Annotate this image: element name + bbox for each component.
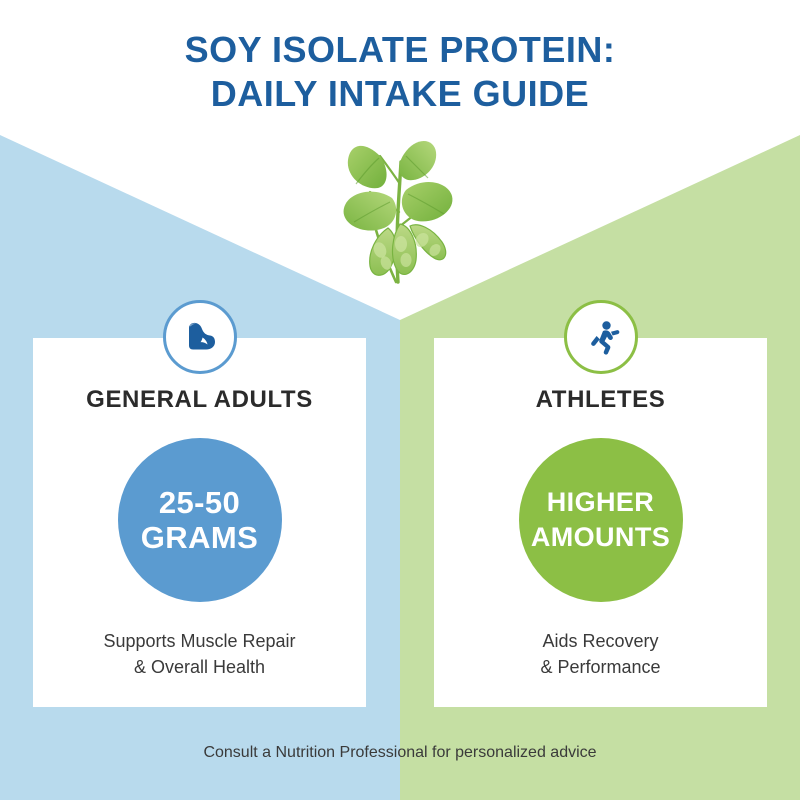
card-description-athletes: Aids Recovery & Performance [540,628,660,680]
desc-line-1: Supports Muscle Repair [103,628,295,654]
value-circle-general-adults: 25-50 GRAMS [118,438,282,602]
value-line-1: HIGHER [547,485,654,520]
footer-disclaimer: Consult a Nutrition Professional for per… [0,744,800,762]
soybean-pod-left [370,228,396,275]
card-heading-athletes: ATHLETES [536,386,666,414]
leaf-mid-left [344,192,397,231]
value-circle-athletes: HIGHER AMOUNTS [519,438,683,602]
infographic-canvas: SOY ISOLATE PROTEIN: DAILY INTAKE GUIDE [0,0,800,800]
card-description-general-adults: Supports Muscle Repair & Overall Health [103,628,295,680]
desc-line-2: & Overall Health [103,654,295,680]
page-title: SOY ISOLATE PROTEIN: DAILY INTAKE GUIDE [0,28,800,116]
leaf-mid-right [402,182,453,221]
value-line-1: 25-50 [159,485,240,520]
desc-line-2: & Performance [540,654,660,680]
flexed-bicep-icon-badge [163,300,237,374]
soybean-plant-illustration [330,132,470,292]
card-athletes: ATHLETES HIGHER AMOUNTS Aids Recovery & … [434,338,767,707]
running-person-icon [581,317,621,357]
leaf-upper-left [348,146,387,188]
value-line-2: AMOUNTS [531,520,670,555]
soybean-plant-svg [330,132,470,292]
flexed-bicep-icon [180,317,220,357]
desc-line-1: Aids Recovery [540,628,660,654]
running-person-icon-badge [564,300,638,374]
title-line-2: DAILY INTAKE GUIDE [0,72,800,116]
card-heading-general-adults: GENERAL ADULTS [86,386,313,414]
value-line-2: GRAMS [141,520,258,555]
title-line-1: SOY ISOLATE PROTEIN: [0,28,800,72]
leaf-upper-right [399,141,436,180]
card-general-adults: GENERAL ADULTS 25-50 GRAMS Supports Musc… [33,338,366,707]
